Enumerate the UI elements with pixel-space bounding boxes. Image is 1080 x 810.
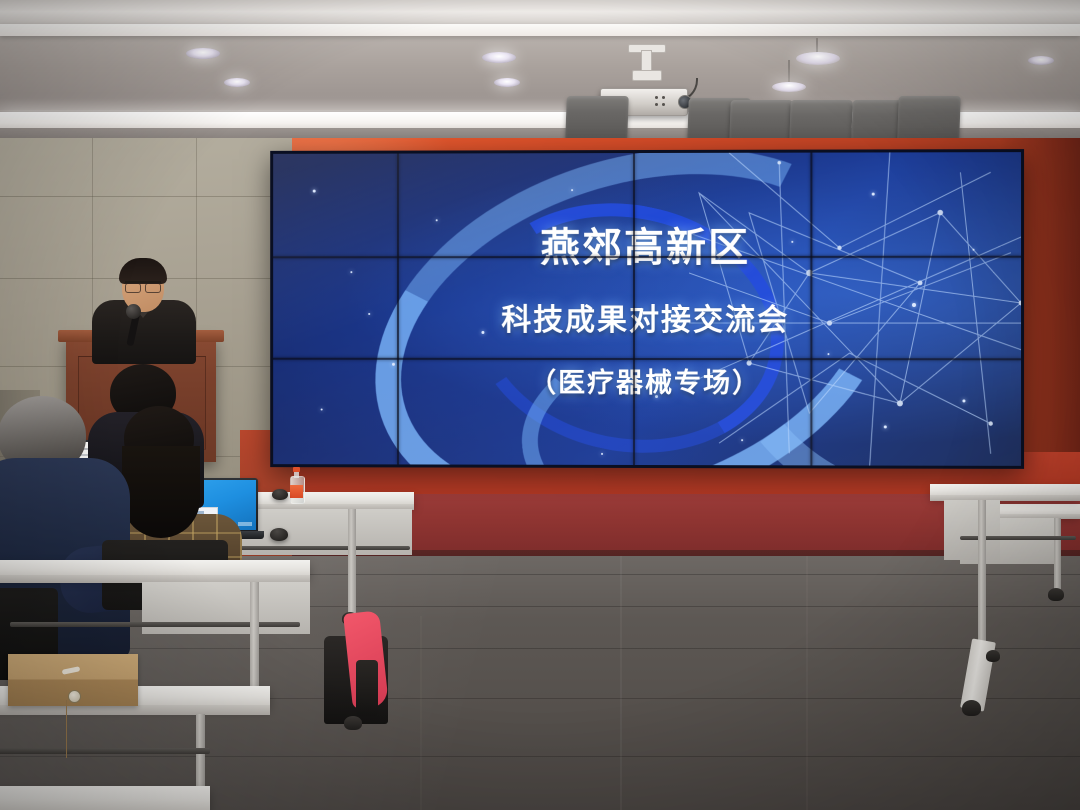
slide-text-block: 燕郊高新区 科技成果对接交流会 （医疗器械专场） — [273, 152, 1021, 466]
pendant-light-icon — [772, 82, 806, 92]
conference-room-scene: 燕郊高新区 科技成果对接交流会 （医疗器械专场） — [0, 0, 1080, 810]
slide-subtitle: 科技成果对接交流会 — [501, 294, 789, 338]
downlight-icon — [494, 78, 520, 87]
video-wall-bezel-seam — [633, 153, 635, 465]
led-video-wall[interactable]: 燕郊高新区 科技成果对接交流会 （医疗器械专场） — [270, 149, 1024, 469]
table-rail — [0, 748, 210, 754]
water-bottle — [290, 466, 304, 504]
bottle-label — [290, 485, 303, 498]
attendee-long-hair — [122, 446, 200, 538]
table-edge — [0, 705, 270, 715]
table-apron — [944, 500, 1000, 560]
downlight-icon — [1028, 56, 1054, 65]
bag-strap — [356, 660, 378, 716]
table-row — [0, 786, 210, 810]
table-caster — [962, 700, 981, 716]
computer-mouse[interactable] — [272, 489, 288, 500]
table-row — [0, 560, 310, 576]
envelope-string — [66, 700, 67, 758]
slide-subtitle-secondary: （医疗器械专场） — [529, 360, 761, 399]
table-leg — [348, 509, 356, 615]
downlight-icon — [224, 78, 250, 87]
bottle-cap — [293, 467, 300, 472]
envelope-button — [68, 690, 81, 703]
table-caster — [986, 650, 1000, 662]
video-wall-bezel-seam — [810, 153, 812, 466]
table-leg — [978, 500, 986, 648]
downlight-icon — [186, 48, 220, 59]
glasses-icon — [125, 281, 161, 291]
pendant-light-icon — [796, 52, 840, 65]
microphone-head-icon — [126, 304, 141, 319]
ceiling-top — [0, 0, 1080, 26]
computer-mouse[interactable] — [270, 528, 288, 541]
table-leg — [250, 582, 259, 700]
slide-title: 燕郊高新区 — [540, 214, 750, 272]
downlight-icon — [482, 52, 516, 63]
table-caster — [1048, 588, 1064, 601]
ceiling-speaker-panel — [565, 96, 629, 140]
ceiling-speaker-panel — [897, 96, 961, 140]
ceiling-cove-light — [0, 24, 1080, 36]
video-wall-bezel-seam — [397, 154, 399, 465]
table-leg — [1054, 518, 1061, 592]
bag-wheel — [344, 716, 362, 730]
